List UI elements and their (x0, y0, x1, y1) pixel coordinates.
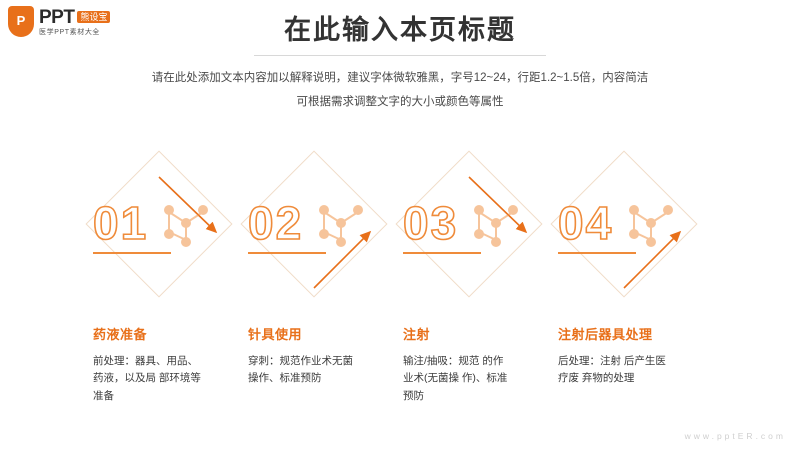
process-step-3[interactable]: 03 注射 输注/抽吸：规范 的作业术(无菌操 作)、标准预防 (403, 200, 563, 405)
footer-watermark: www.pptER.com (685, 431, 786, 441)
title-divider (254, 55, 546, 56)
step-heading: 药液准备 (93, 324, 253, 343)
step-number: 03 (403, 200, 563, 246)
step-heading: 注射 (403, 324, 563, 343)
step-body: 后处理：注射 后产生医疗废 弃物的处理 (558, 353, 666, 388)
header-block: 在此输入本页标题 请在此处添加文本内容加以解释说明，建议字体微软雅黑，字号12~… (0, 14, 800, 113)
step-body: 前处理：器具、用品、药液，以及局 部环境等准备 (93, 353, 201, 405)
step-underline (558, 252, 636, 254)
step-number: 04 (558, 200, 718, 246)
step-underline (93, 252, 171, 254)
process-step-4[interactable]: 04 注射后器具处理 后处理：注射 后产生医疗废 弃物的处理 (558, 200, 718, 388)
step-heading: 注射后器具处理 (558, 324, 718, 343)
step-body: 穿刺：规范作业术无菌操作、标准预防 (248, 353, 356, 388)
slide-root: P PPT 熊设宝 医学PPT素材大全 在此输入本页标题 请在此处添加文本内容加… (0, 0, 800, 450)
process-diagram: 01 药液准备 前处理：器具、用品、药液，以及局 部环境等准备 (0, 150, 800, 400)
page-title: 在此输入本页标题 (0, 14, 800, 46)
subtitle-line-2: 可根据需求调整文字的大小或颜色等属性 (0, 92, 800, 113)
step-body: 输注/抽吸：规范 的作业术(无菌操 作)、标准预防 (403, 353, 511, 405)
process-step-2[interactable]: 02 针具使用 穿刺：规范作业术无菌操作、标准预防 (248, 200, 408, 388)
step-number: 02 (248, 200, 408, 246)
step-underline (248, 252, 326, 254)
step-heading: 针具使用 (248, 324, 408, 343)
process-step-1[interactable]: 01 药液准备 前处理：器具、用品、药液，以及局 部环境等准备 (93, 200, 253, 405)
subtitle-line-1: 请在此处添加文本内容加以解释说明，建议字体微软雅黑，字号12~24，行距1.2~… (0, 68, 800, 89)
step-number: 01 (93, 200, 253, 246)
step-underline (403, 252, 481, 254)
